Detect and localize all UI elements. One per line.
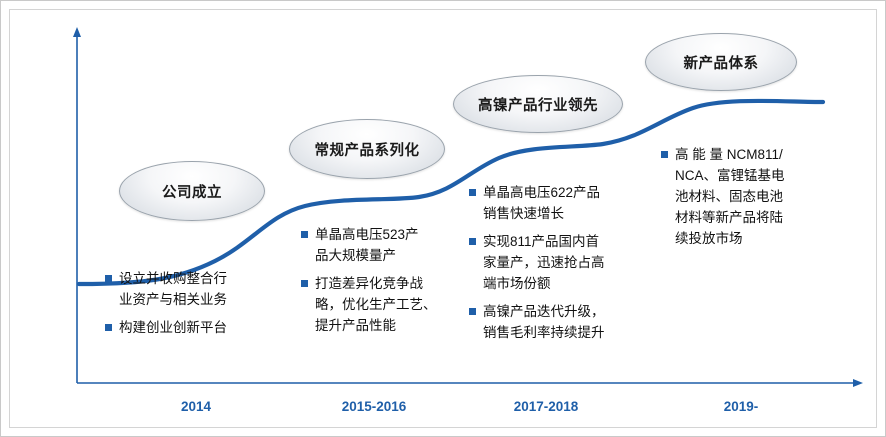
stage-bubble-1: 公司成立 (119, 161, 265, 221)
bullet-item: 实现811产品国内首 家量产，迅速抢占高 端市场份额 (469, 232, 655, 295)
stage-bubble-label-2: 常规产品系列化 (315, 139, 420, 160)
bullet-marker-icon (105, 275, 112, 282)
bullet-item: 单晶高电压523产 品大规模量产 (301, 225, 483, 267)
bullet-item: 单晶高电压622产品 销售快速增长 (469, 183, 655, 225)
x-axis-label-2: 2015-2016 (319, 399, 429, 414)
stage-bullets-2: 单晶高电压523产 品大规模量产 打造差异化竞争战 略，优化生产工艺、 提升产品… (301, 225, 483, 344)
bullet-marker-icon (301, 280, 308, 287)
stage-bubble-label-4: 新产品体系 (684, 52, 759, 73)
bullet-item: 高镍产品迭代升级， 销售毛利率持续提升 (469, 302, 655, 344)
stage-bubble-2: 常规产品系列化 (289, 119, 445, 179)
stage-bubble-label-3: 高镍产品行业领先 (478, 94, 598, 115)
bullet-text: 构建创业创新平台 (119, 318, 285, 339)
y-axis-arrow (73, 27, 81, 37)
x-axis-arrow (853, 379, 863, 387)
bullet-item: 设立并收购整合行 业资产与相关业务 (105, 269, 285, 311)
bullet-text: 单晶高电压523产 品大规模量产 (315, 225, 483, 267)
bullet-marker-icon (469, 308, 476, 315)
bullet-item: 打造差异化竞争战 略，优化生产工艺、 提升产品性能 (301, 274, 483, 337)
bullet-item: 高 能 量 NCM811/ NCA、富锂锰基电 池材料、固态电池 材料等新产品将… (661, 145, 853, 250)
bullet-marker-icon (469, 189, 476, 196)
stage-bullets-3: 单晶高电压622产品 销售快速增长 实现811产品国内首 家量产，迅速抢占高 端… (469, 183, 655, 350)
diagram-canvas: 公司成立 设立并收购整合行 业资产与相关业务 构建创业创新平台 2014 常规产… (0, 0, 886, 437)
bullet-marker-icon (661, 151, 668, 158)
bullet-text: 设立并收购整合行 业资产与相关业务 (119, 269, 285, 311)
bullet-marker-icon (469, 238, 476, 245)
stage-bubble-4: 新产品体系 (645, 33, 797, 91)
bullet-text: 实现811产品国内首 家量产，迅速抢占高 端市场份额 (483, 232, 655, 295)
bullet-text: 高 能 量 NCM811/ NCA、富锂锰基电 池材料、固态电池 材料等新产品将… (675, 145, 853, 250)
stage-bullets-1: 设立并收购整合行 业资产与相关业务 构建创业创新平台 (105, 269, 285, 346)
bullet-item: 构建创业创新平台 (105, 318, 285, 339)
stage-bubble-label-1: 公司成立 (162, 181, 222, 202)
bullet-marker-icon (105, 324, 112, 331)
stage-bubble-3: 高镍产品行业领先 (453, 75, 623, 133)
bullet-text: 打造差异化竞争战 略，优化生产工艺、 提升产品性能 (315, 274, 483, 337)
x-axis-label-4: 2019- (691, 399, 791, 414)
x-axis-label-1: 2014 (151, 399, 241, 414)
x-axis-label-3: 2017-2018 (491, 399, 601, 414)
bullet-text: 高镍产品迭代升级， 销售毛利率持续提升 (483, 302, 655, 344)
bullet-text: 单晶高电压622产品 销售快速增长 (483, 183, 655, 225)
stage-bullets-4: 高 能 量 NCM811/ NCA、富锂锰基电 池材料、固态电池 材料等新产品将… (661, 145, 853, 257)
bullet-marker-icon (301, 231, 308, 238)
